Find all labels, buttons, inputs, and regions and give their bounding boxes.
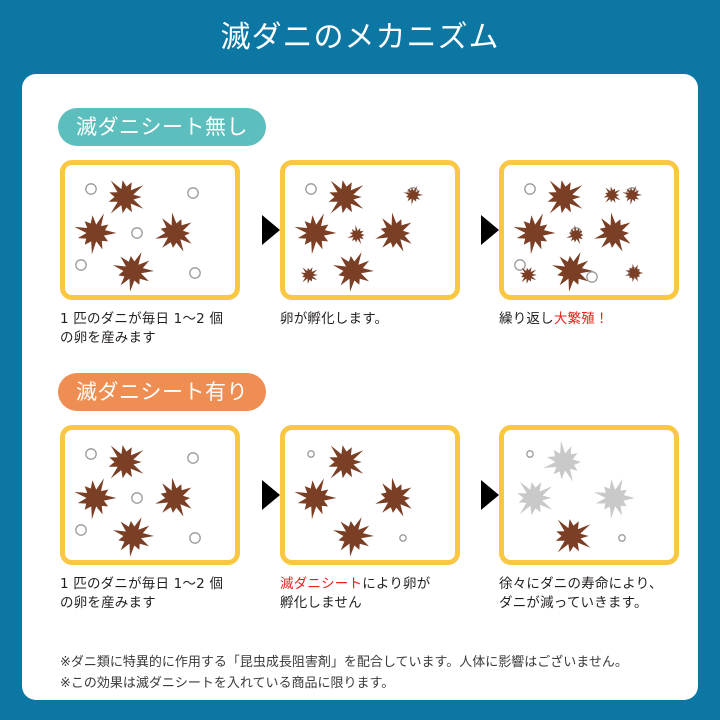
caption-line-2: ダニが減っていきます。: [499, 595, 648, 611]
mite-icon: [155, 478, 191, 517]
mite-egg-icon: [619, 535, 625, 541]
footnote-line-1: ※ダニ類に特異的に作用する「昆虫成長阻害剤」を配合しています。人体に影響はござい…: [60, 652, 680, 673]
mite-icon: [155, 213, 191, 252]
caption-highlight: 滅ダニシート: [280, 576, 362, 592]
caption-highlight: 大繁殖！: [554, 311, 609, 327]
mite-icon: [329, 180, 364, 213]
mite-illustration-panel: [60, 160, 240, 300]
mite-egg-icon: [86, 184, 96, 194]
mite-egg-icon: [76, 260, 86, 270]
mite-egg-icon: [188, 188, 198, 198]
mite-egg-icon: [132, 493, 142, 503]
mite-egg-icon: [400, 535, 406, 541]
mite-egg-icon: [190, 533, 200, 543]
step-caption: 繰り返し大繁殖！: [499, 310, 699, 329]
arrow-icon: [481, 215, 499, 245]
section-row-without-sheet: 1 匹のダニが毎日 1〜2 個 の卵を産みます 卵が孵化します。: [22, 160, 698, 340]
content-card: 滅ダニシート無し 1 匹のダニが毎日 1〜2 個 の卵を産みます 卵が孵化します…: [22, 74, 698, 700]
caption-line-2: の卵を産みます: [60, 595, 156, 611]
mite-icon: [552, 252, 593, 292]
mite-icon: [333, 517, 374, 557]
caption-line-1: 1 匹のダニが毎日 1〜2 個: [60, 311, 223, 327]
step-panel-2-2: 滅ダニシートにより卵が 孵化しません: [280, 425, 460, 565]
mite-icon: [329, 445, 364, 478]
mite-egg-icon: [515, 260, 525, 270]
section-badge-without-sheet: 滅ダニシート無し: [58, 108, 266, 146]
footnotes: ※ダニ類に特異的に作用する「昆虫成長阻害剤」を配合しています。人体に影響はござい…: [60, 652, 680, 694]
mite-icon: [594, 213, 630, 252]
mite-scene: [504, 430, 674, 560]
arrow-icon: [262, 215, 280, 245]
mite-scene: [285, 430, 455, 560]
mite-icon: [604, 187, 621, 203]
mite-scene: [65, 430, 235, 560]
mite-egg-icon: [132, 228, 142, 238]
step-caption: 1 匹のダニが毎日 1〜2 個 の卵を産みます: [60, 310, 260, 348]
mite-egg-icon: [308, 451, 314, 457]
mite-egg-icon: [587, 272, 597, 282]
mite-icon: [625, 264, 643, 283]
mite-egg-icon: [525, 184, 535, 194]
mite-icon: [517, 482, 552, 516]
infographic-root: 滅ダニのメカニズム 滅ダニシート無し 1 匹のダニが毎日 1〜2 個 の卵を産み…: [0, 0, 720, 720]
step-caption: 徐々にダニの寿命により、 ダニが減っていきます。: [499, 575, 699, 613]
mite-icon: [113, 517, 154, 557]
mite-icon: [513, 213, 555, 254]
page-title: 滅ダニのメカニズム: [0, 16, 720, 60]
mite-icon: [594, 479, 635, 519]
step-panel-1-1: 1 匹のダニが毎日 1〜2 個 の卵を産みます: [60, 160, 240, 300]
caption-line-1: 1 匹のダニが毎日 1〜2 個: [60, 576, 223, 592]
mite-icon: [113, 252, 154, 292]
step-caption: 卵が孵化します。: [280, 310, 480, 329]
arrow-icon: [481, 480, 499, 510]
mite-illustration-panel: [499, 160, 679, 300]
mite-icon: [294, 478, 336, 519]
mite-icon: [347, 225, 364, 244]
step-caption: 1 匹のダニが毎日 1〜2 個 の卵を産みます: [60, 575, 260, 613]
step-panel-1-3: 繰り返し大繁殖！: [499, 160, 679, 300]
mite-icon: [566, 225, 583, 244]
mite-scene: [65, 165, 235, 295]
mite-icon: [74, 213, 116, 254]
mite-egg-icon: [306, 184, 316, 194]
caption-line-1: 卵が孵化します。: [280, 311, 388, 327]
mite-egg-icon: [190, 268, 200, 278]
caption-line-2: 孵化しません: [280, 595, 362, 611]
mite-illustration-panel: [280, 425, 460, 565]
arrow-icon: [262, 480, 280, 510]
mite-illustration-panel: [499, 425, 679, 565]
mite-egg-icon: [527, 451, 533, 457]
section-row-with-sheet: 1 匹のダニが毎日 1〜2 個 の卵を産みます 滅ダニシートにより卵が 孵化しま…: [22, 425, 698, 605]
caption-line-1: 繰り返し: [499, 311, 554, 327]
mite-icon: [375, 213, 411, 252]
mite-icon: [74, 478, 116, 519]
step-panel-1-2: 卵が孵化します。: [280, 160, 460, 300]
caption-line-1: により卵が: [362, 576, 430, 592]
mite-icon: [333, 252, 374, 292]
step-caption: 滅ダニシートにより卵が 孵化しません: [280, 575, 480, 613]
mite-illustration-panel: [60, 425, 240, 565]
mite-icon: [109, 180, 144, 213]
caption-line-1: 徐々にダニの寿命により、: [499, 576, 663, 592]
mite-icon: [375, 478, 411, 517]
mite-icon: [301, 267, 318, 284]
mite-scene: [285, 165, 455, 295]
mite-icon: [556, 519, 591, 552]
mite-icon: [543, 441, 581, 482]
caption-line-2: の卵を産みます: [60, 330, 156, 346]
mite-egg-icon: [76, 525, 86, 535]
step-panel-2-1: 1 匹のダニが毎日 1〜2 個 の卵を産みます: [60, 425, 240, 565]
mite-icon: [109, 445, 144, 478]
mite-egg-icon: [86, 449, 96, 459]
footnote-line-2: ※この効果は滅ダニシートを入れている商品に限ります。: [60, 673, 680, 694]
mite-egg-icon: [188, 453, 198, 463]
mite-icon: [294, 213, 336, 254]
section-badge-with-sheet: 滅ダニシート有り: [58, 373, 266, 411]
step-panel-2-3: 徐々にダニの寿命により、 ダニが減っていきます。: [499, 425, 679, 565]
mite-illustration-panel: [280, 160, 460, 300]
mite-scene: [504, 165, 674, 295]
mite-icon: [548, 180, 583, 213]
